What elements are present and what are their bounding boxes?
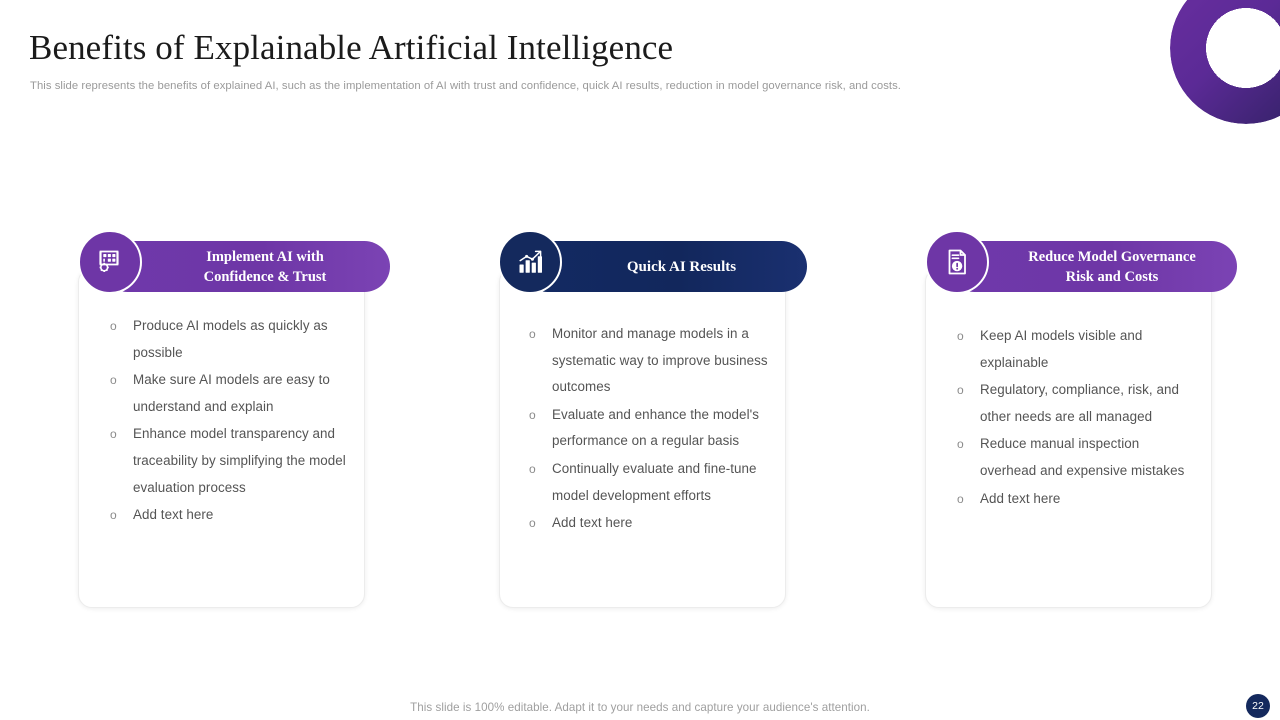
list-item[interactable]: o Add text here bbox=[526, 510, 769, 537]
card-title: Reduce Model Governance Risk and Costs bbox=[949, 247, 1237, 287]
list-item-text: Continually evaluate and fine-tune model… bbox=[552, 461, 757, 503]
bullet-marker: o bbox=[110, 313, 117, 340]
benefit-list: o Monitor and manage models in a systema… bbox=[500, 269, 785, 548]
card-header-bar: Implement AI with Confidence & Trust bbox=[102, 241, 390, 292]
bullet-marker: o bbox=[957, 377, 964, 404]
bullet-marker: o bbox=[529, 402, 536, 429]
list-item-text: Regulatory, compliance, risk, and other … bbox=[980, 382, 1179, 424]
list-item: o Reduce manual inspection overhead and … bbox=[954, 431, 1195, 484]
card-title: Quick AI Results bbox=[522, 257, 807, 277]
list-item[interactable]: o Add text here bbox=[107, 502, 348, 529]
page-subtitle: This slide represents the benefits of ex… bbox=[30, 79, 901, 94]
bullet-marker: o bbox=[110, 367, 117, 394]
card-title-line2: Confidence & Trust bbox=[204, 269, 327, 285]
document-alert-icon bbox=[925, 230, 989, 294]
card-title-line2: Risk and Costs bbox=[1066, 269, 1159, 285]
list-item-text: Make sure AI models are easy to understa… bbox=[133, 372, 330, 414]
list-item-text: Monitor and manage models in a systemati… bbox=[552, 326, 768, 394]
list-item: o Keep AI models visible and explainable bbox=[954, 323, 1195, 376]
list-item-text: Enhance model transparency and traceabil… bbox=[133, 426, 346, 494]
benefit-card-implement-ai[interactable]: Implement AI with Confidence & Trust o P… bbox=[78, 268, 365, 608]
list-item-text: Evaluate and enhance the model's perform… bbox=[552, 407, 759, 449]
card-title-line1: Quick AI Results bbox=[627, 259, 736, 275]
bullet-marker: o bbox=[529, 456, 536, 483]
benefit-list: o Keep AI models visible and explainable… bbox=[926, 269, 1211, 523]
list-item-text: Keep AI models visible and explainable bbox=[980, 328, 1142, 370]
list-item-text: Reduce manual inspection overhead and ex… bbox=[980, 436, 1184, 478]
list-item: o Continually evaluate and fine-tune mod… bbox=[526, 456, 769, 509]
card-title-line1: Reduce Model Governance bbox=[1028, 249, 1196, 265]
card-title: Implement AI with Confidence & Trust bbox=[102, 247, 390, 287]
benefit-card-reduce-governance-risk[interactable]: Reduce Model Governance Risk and Costs o… bbox=[925, 268, 1212, 608]
benefit-cards-row: Implement AI with Confidence & Trust o P… bbox=[0, 228, 1280, 588]
decorative-ring bbox=[1170, 0, 1280, 124]
bullet-marker: o bbox=[957, 323, 964, 350]
list-item-text[interactable]: Add text here bbox=[552, 515, 632, 530]
list-item: o Enhance model transparency and traceab… bbox=[107, 421, 348, 501]
benefit-list: o Produce AI models as quickly as possib… bbox=[79, 269, 364, 540]
page-title: Benefits of Explainable Artificial Intel… bbox=[29, 26, 673, 70]
list-item[interactable]: o Add text here bbox=[954, 486, 1195, 513]
benefit-card-quick-ai-results[interactable]: Quick AI Results o Monitor and manage mo… bbox=[499, 268, 786, 608]
bar-chart-trend-icon bbox=[498, 230, 562, 294]
card-title-line1: Implement AI with bbox=[206, 249, 324, 265]
list-item: o Evaluate and enhance the model's perfo… bbox=[526, 402, 769, 455]
list-item: o Monitor and manage models in a systema… bbox=[526, 321, 769, 401]
bullet-marker: o bbox=[957, 431, 964, 458]
list-item: o Regulatory, compliance, risk, and othe… bbox=[954, 377, 1195, 430]
bullet-marker: o bbox=[529, 321, 536, 348]
card-header-bar: Quick AI Results bbox=[522, 241, 807, 292]
page-number-badge: 22 bbox=[1246, 694, 1270, 718]
bullet-marker: o bbox=[110, 502, 117, 529]
list-item-text[interactable]: Add text here bbox=[980, 491, 1060, 506]
list-item-text[interactable]: Add text here bbox=[133, 507, 213, 522]
list-item: o Produce AI models as quickly as possib… bbox=[107, 313, 348, 366]
bullet-marker: o bbox=[110, 421, 117, 448]
footer-note: This slide is 100% editable. Adapt it to… bbox=[0, 701, 1280, 714]
list-item-text: Produce AI models as quickly as possible bbox=[133, 318, 328, 360]
blueprint-gear-icon bbox=[78, 230, 142, 294]
bullet-marker: o bbox=[957, 486, 964, 513]
bullet-marker: o bbox=[529, 510, 536, 537]
card-header-bar: Reduce Model Governance Risk and Costs bbox=[949, 241, 1237, 292]
list-item: o Make sure AI models are easy to unders… bbox=[107, 367, 348, 420]
